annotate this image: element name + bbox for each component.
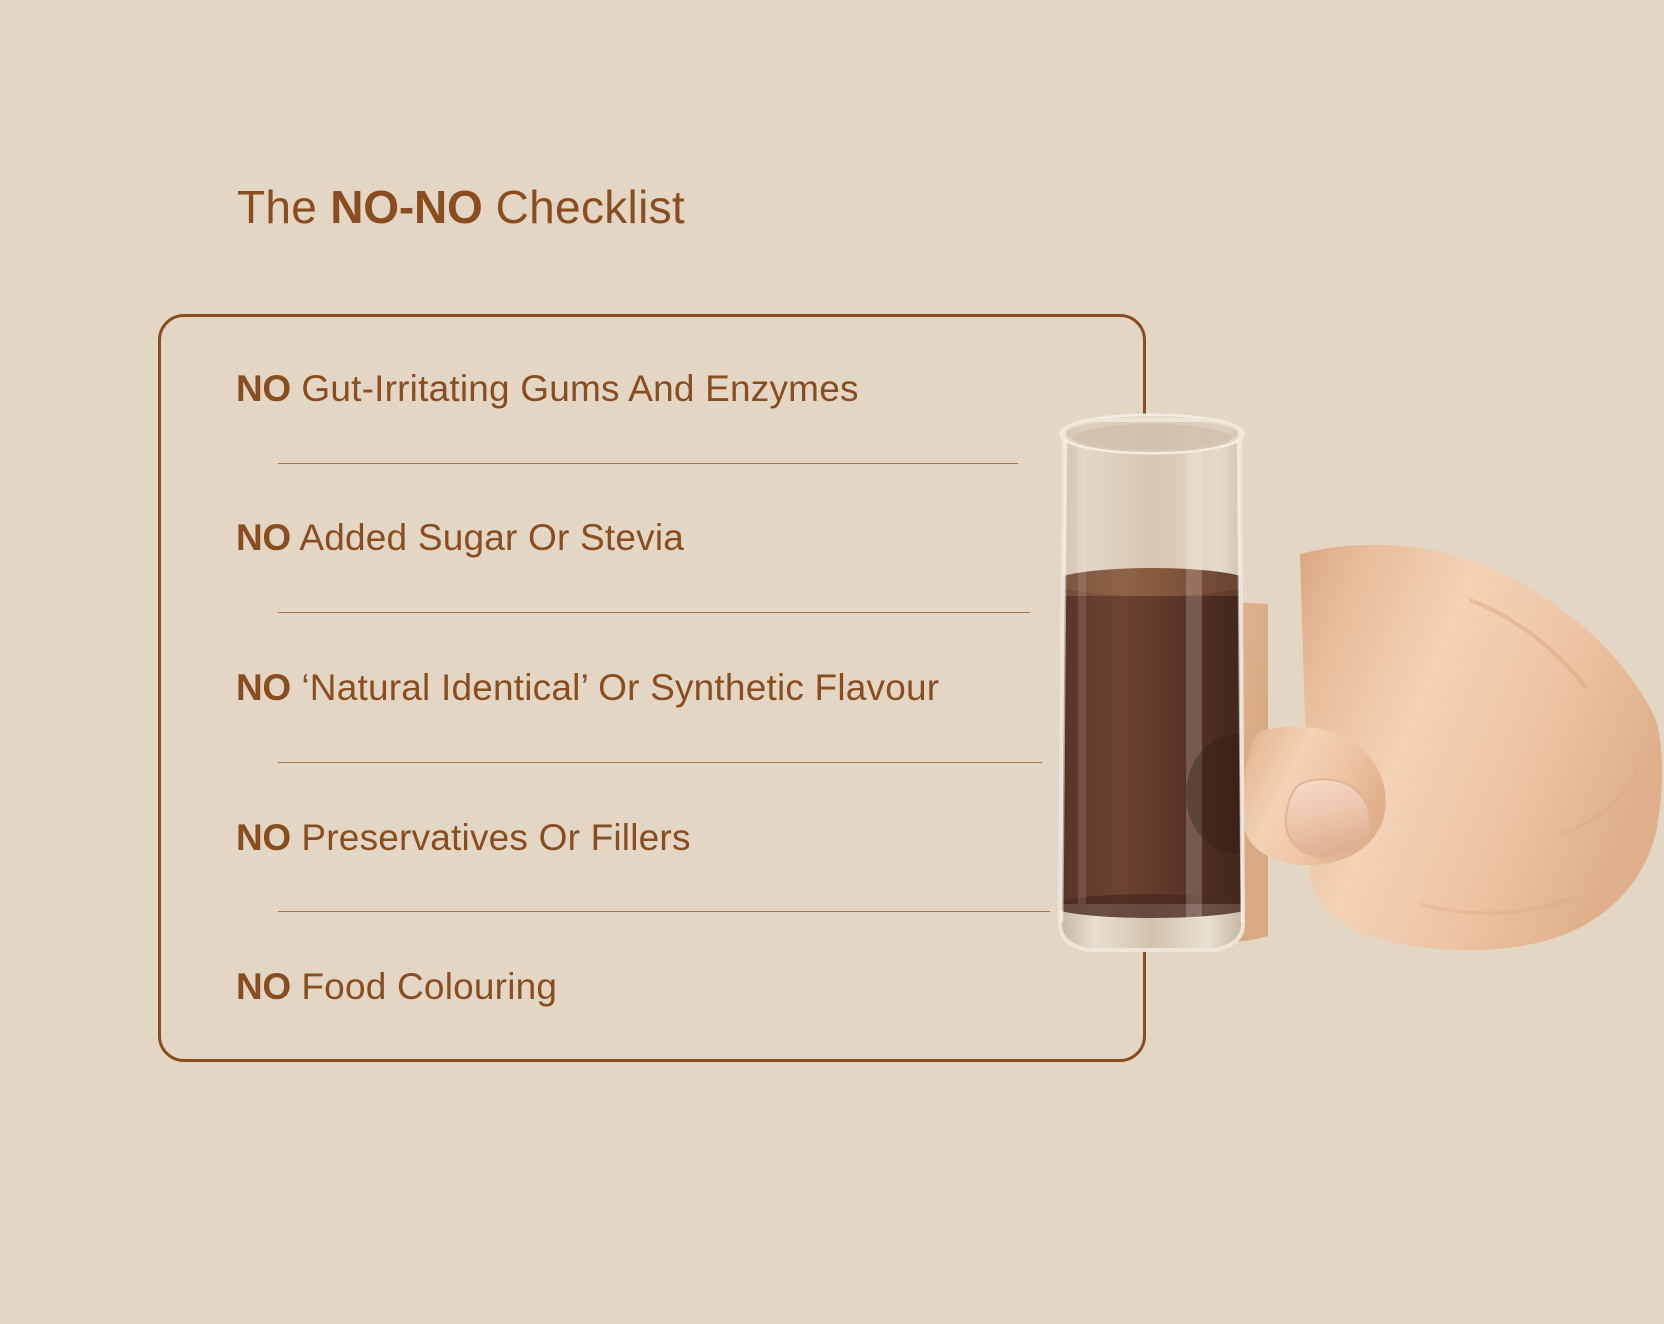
list-item-label: ‘Natural Identical’ Or Synthetic Flavour	[291, 667, 939, 708]
list-item-prefix: NO	[236, 966, 291, 1007]
list-item-label: Preservatives Or Fillers	[291, 817, 691, 858]
list-item: NO Gut-Irritating Gums And Enzymes	[236, 314, 1146, 464]
list-item-label: Added Sugar Or Stevia	[291, 517, 684, 558]
checklist: NO Gut-Irritating Gums And Enzymes NO Ad…	[158, 314, 1146, 1062]
list-item-prefix: NO	[236, 517, 291, 558]
list-item-prefix: NO	[236, 667, 291, 708]
list-item-text: NO Preservatives Or Fillers	[236, 815, 691, 861]
hand	[1241, 545, 1662, 950]
list-item: NO Preservatives Or Fillers	[236, 763, 1146, 913]
list-item: NO Added Sugar Or Stevia	[236, 464, 1146, 614]
list-item-label: Gut-Irritating Gums And Enzymes	[291, 368, 859, 409]
list-item: NO Food Colouring	[236, 912, 1146, 1062]
list-item-label: Food Colouring	[291, 966, 557, 1007]
page-title-emphasis: NO-NO	[330, 181, 482, 233]
list-item-prefix: NO	[236, 368, 291, 409]
list-item-prefix: NO	[236, 817, 291, 858]
list-item-text: NO ‘Natural Identical’ Or Synthetic Flav…	[236, 665, 939, 711]
page-title: The NO-NO Checklist	[237, 178, 685, 236]
hand-back-fingers	[1126, 600, 1268, 944]
list-item-text: NO Gut-Irritating Gums And Enzymes	[236, 366, 859, 412]
list-item-text: NO Food Colouring	[236, 964, 557, 1010]
poster-canvas: The NO-NO Checklist NO Gut-Irritating Gu…	[0, 0, 1664, 1324]
list-item-text: NO Added Sugar Or Stevia	[236, 515, 684, 561]
page-title-prefix: The	[237, 181, 330, 233]
list-item: NO ‘Natural Identical’ Or Synthetic Flav…	[236, 613, 1146, 763]
page-title-suffix: Checklist	[483, 181, 685, 233]
